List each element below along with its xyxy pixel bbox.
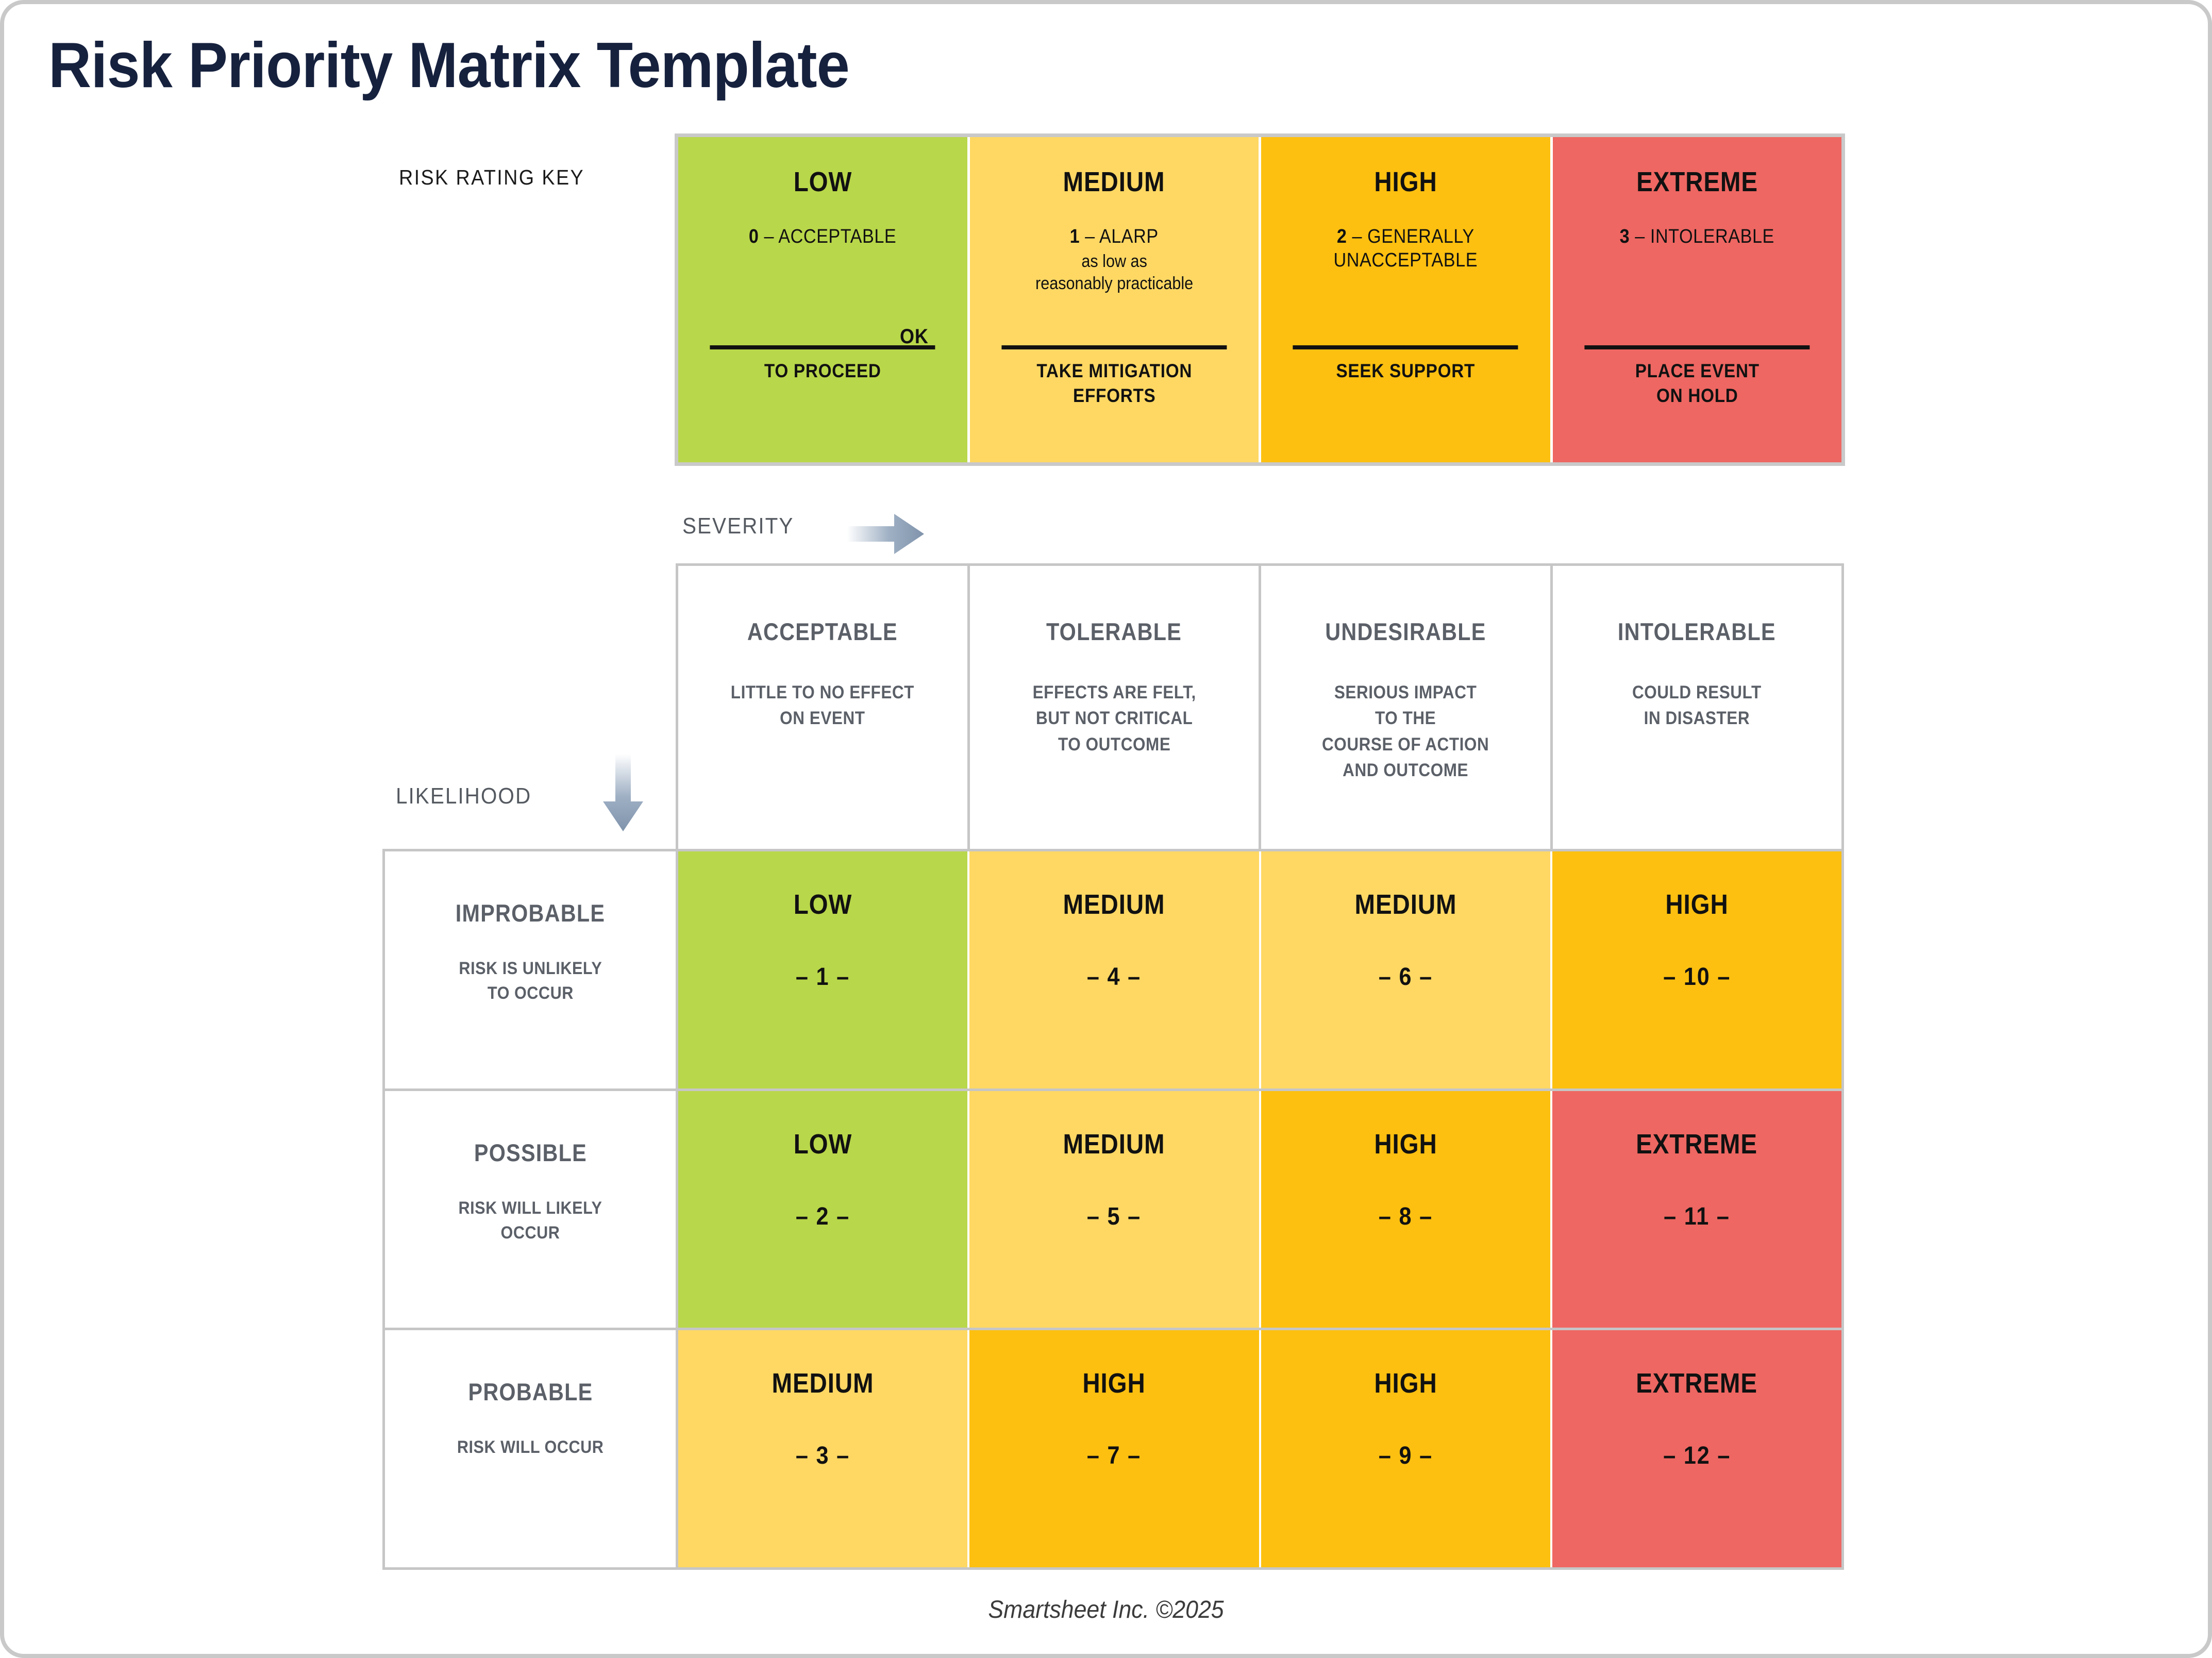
risk-key-score: 1 – ALARP bbox=[1070, 225, 1159, 248]
risk-key-rating: LOW bbox=[794, 166, 852, 198]
matrix-cell-rating: LOW bbox=[794, 1128, 852, 1160]
likelihood-row-description: RISK WILL LIKELYOCCUR bbox=[459, 1196, 602, 1246]
severity-column-title: TOLERABLE bbox=[1046, 617, 1182, 646]
matrix-cell-rating: EXTREME bbox=[1636, 1367, 1757, 1399]
matrix-cell-number: – 6 – bbox=[1379, 963, 1433, 991]
likelihood-axis-label: LIKELIHOOD bbox=[396, 783, 531, 809]
ok-badge: OK bbox=[900, 325, 929, 348]
matrix-cell[interactable]: HIGH– 9 – bbox=[1259, 1330, 1550, 1567]
severity-column-description: LITTLE TO NO EFFECTON EVENT bbox=[731, 680, 914, 732]
risk-key-action: TO PROCEED bbox=[693, 359, 952, 383]
risk-key-divider bbox=[1293, 345, 1518, 349]
arrow-down-icon bbox=[601, 754, 645, 834]
matrix-cell[interactable]: LOW– 1 – bbox=[678, 851, 967, 1088]
severity-column-title: ACCEPTABLE bbox=[747, 617, 898, 646]
risk-key-score: 3 – INTOLERABLE bbox=[1620, 225, 1774, 248]
likelihood-row-improbable: IMPROBABLERISK IS UNLIKELYTO OCCUR bbox=[385, 851, 678, 1088]
matrix-cell-number: – 11 – bbox=[1664, 1202, 1730, 1231]
matrix-cell[interactable]: MEDIUM– 3 – bbox=[678, 1330, 967, 1567]
matrix-cell-number: – 4 – bbox=[1087, 963, 1141, 991]
likelihood-row-title: PROBABLE bbox=[468, 1378, 593, 1406]
likelihood-row-possible: POSSIBLERISK WILL LIKELYOCCUR bbox=[385, 1091, 678, 1328]
risk-key-card-extreme: EXTREME3 – INTOLERABLEPLACE EVENTON HOLD bbox=[1550, 137, 1842, 462]
risk-key-subtext: as low asreasonably practicable bbox=[1035, 250, 1193, 294]
matrix-cell-rating: HIGH bbox=[1665, 889, 1728, 920]
document-page: Risk Priority Matrix Template RISK RATIN… bbox=[0, 0, 2212, 1658]
matrix-cell-number: – 3 – bbox=[796, 1442, 850, 1470]
matrix-cell[interactable]: MEDIUM– 6 – bbox=[1259, 851, 1550, 1088]
severity-column-description: SERIOUS IMPACTTO THECOURSE OF ACTIONAND … bbox=[1322, 680, 1489, 784]
matrix-cell[interactable]: MEDIUM– 4 – bbox=[967, 851, 1259, 1088]
matrix-cell-number: – 5 – bbox=[1087, 1202, 1141, 1231]
matrix-cell[interactable]: MEDIUM– 5 – bbox=[967, 1091, 1259, 1328]
matrix-cell-number: – 2 – bbox=[796, 1202, 850, 1231]
matrix-cell[interactable]: LOW– 2 – bbox=[678, 1091, 967, 1328]
severity-column-title: INTOLERABLE bbox=[1618, 617, 1776, 646]
matrix-cell-rating: LOW bbox=[794, 889, 852, 920]
risk-key-card-low: LOW0 – ACCEPTABLETO PROCEED bbox=[678, 137, 967, 462]
risk-rating-key: LOW0 – ACCEPTABLETO PROCEEDMEDIUM1 – ALA… bbox=[678, 137, 1841, 462]
matrix-cell-rating: MEDIUM bbox=[1063, 889, 1165, 920]
severity-column-description: EFFECTS ARE FELT,BUT NOT CRITICALTO OUTC… bbox=[1032, 680, 1196, 758]
likelihood-row-title: POSSIBLE bbox=[474, 1138, 586, 1167]
matrix-cell-number: – 10 – bbox=[1663, 963, 1731, 991]
risk-key-action: SEEK SUPPORT bbox=[1276, 359, 1535, 383]
arrow-right-icon bbox=[847, 512, 924, 559]
risk-key-rating: MEDIUM bbox=[1063, 166, 1165, 198]
matrix-cell-number: – 9 – bbox=[1379, 1442, 1433, 1470]
risk-key-score: 0 – ACCEPTABLE bbox=[749, 225, 896, 248]
matrix-cell-rating: HIGH bbox=[1083, 1367, 1146, 1399]
matrix-cell-rating: MEDIUM bbox=[772, 1367, 874, 1399]
matrix-cell-rating: HIGH bbox=[1374, 1367, 1437, 1399]
footer-copyright: Smartsheet Inc. ©2025 bbox=[81, 1596, 2131, 1624]
likelihood-row-probable: PROBABLERISK WILL OCCUR bbox=[385, 1330, 678, 1567]
matrix-cell[interactable]: HIGH– 10 – bbox=[1550, 851, 1841, 1088]
severity-column-undesirable: UNDESIRABLESERIOUS IMPACTTO THECOURSE OF… bbox=[1259, 566, 1550, 851]
matrix-cell[interactable]: EXTREME– 12 – bbox=[1550, 1330, 1841, 1567]
likelihood-row-description: RISK WILL OCCUR bbox=[457, 1435, 604, 1460]
matrix-cell-number: – 12 – bbox=[1663, 1442, 1731, 1470]
severity-column-description: COULD RESULTIN DISASTER bbox=[1632, 680, 1762, 732]
risk-rating-key-label: RISK RATING KEY bbox=[399, 165, 584, 190]
matrix-cell-rating: MEDIUM bbox=[1063, 1128, 1165, 1160]
risk-key-card-high: HIGH2 – GENERALLYUNACCEPTABLESEEK SUPPOR… bbox=[1259, 137, 1550, 462]
severity-axis-label: SEVERITY bbox=[682, 513, 794, 539]
risk-key-action: PLACE EVENTON HOLD bbox=[1567, 359, 1827, 408]
severity-column-intolerable: INTOLERABLECOULD RESULTIN DISASTER bbox=[1550, 566, 1842, 851]
risk-matrix-grid: IMPROBABLERISK IS UNLIKELYTO OCCURLOW– 1… bbox=[385, 851, 1841, 1567]
matrix-cell-rating: MEDIUM bbox=[1354, 889, 1456, 920]
matrix-cell-number: – 1 – bbox=[796, 963, 850, 991]
matrix-cell[interactable]: HIGH– 7 – bbox=[967, 1330, 1259, 1567]
risk-key-score: 2 – GENERALLYUNACCEPTABLE bbox=[1333, 225, 1478, 273]
matrix-cell-number: – 8 – bbox=[1379, 1202, 1433, 1231]
matrix-cell[interactable]: EXTREME– 11 – bbox=[1550, 1091, 1841, 1328]
page-title: Risk Priority Matrix Template bbox=[48, 29, 849, 102]
likelihood-row-title: IMPROBABLE bbox=[456, 899, 605, 927]
severity-column-title: UNDESIRABLE bbox=[1325, 617, 1486, 646]
risk-key-rating: EXTREME bbox=[1636, 166, 1758, 198]
risk-key-divider bbox=[1001, 345, 1227, 349]
matrix-cell-rating: EXTREME bbox=[1636, 1128, 1757, 1160]
matrix-cell[interactable]: HIGH– 8 – bbox=[1259, 1091, 1550, 1328]
matrix-cell-number: – 7 – bbox=[1087, 1442, 1141, 1470]
risk-key-card-medium: MEDIUM1 – ALARPas low asreasonably pract… bbox=[967, 137, 1259, 462]
severity-column-acceptable: ACCEPTABLELITTLE TO NO EFFECTON EVENT bbox=[678, 566, 967, 851]
risk-key-divider bbox=[1584, 345, 1809, 349]
risk-key-action: TAKE MITIGATIONEFFORTS bbox=[984, 359, 1244, 408]
likelihood-row-description: RISK IS UNLIKELYTO OCCUR bbox=[459, 956, 602, 1006]
matrix-row: PROBABLERISK WILL OCCURMEDIUM– 3 –HIGH– … bbox=[385, 1328, 1841, 1567]
severity-column-tolerable: TOLERABLEEFFECTS ARE FELT,BUT NOT CRITIC… bbox=[967, 566, 1259, 851]
matrix-row: POSSIBLERISK WILL LIKELYOCCURLOW– 2 –MED… bbox=[385, 1088, 1841, 1328]
severity-column-headers: ACCEPTABLELITTLE TO NO EFFECTON EVENTTOL… bbox=[678, 566, 1841, 851]
risk-key-rating: HIGH bbox=[1374, 166, 1437, 198]
matrix-cell-rating: HIGH bbox=[1374, 1128, 1437, 1160]
matrix-row: IMPROBABLERISK IS UNLIKELYTO OCCURLOW– 1… bbox=[385, 851, 1841, 1088]
